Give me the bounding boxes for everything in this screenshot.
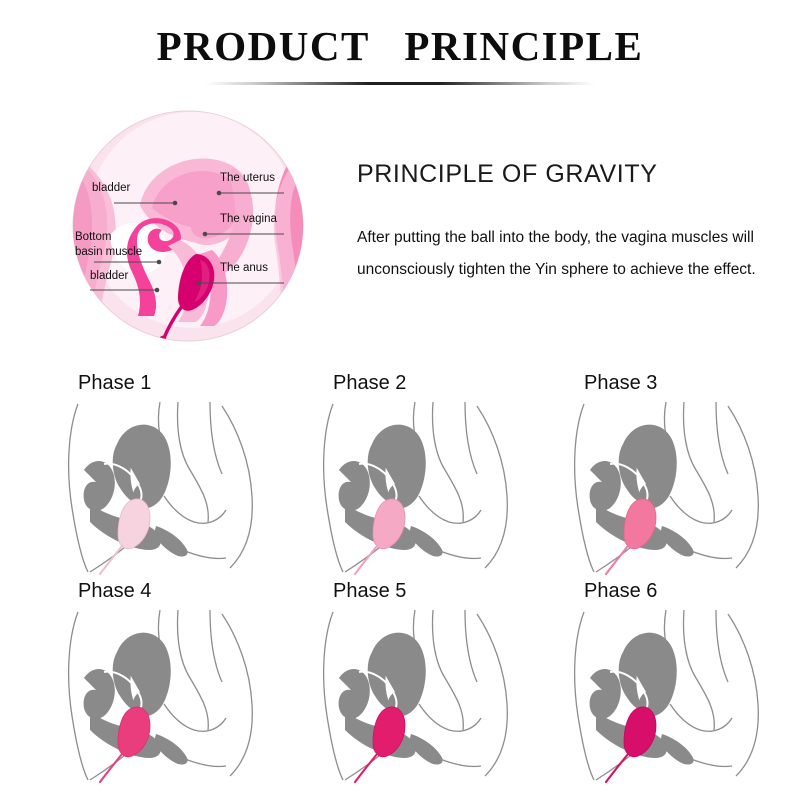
page-title: PRODUCT PRINCIPLE — [0, 22, 800, 70]
principle-body-text: After putting the ball into the body, th… — [357, 222, 772, 286]
phase-illustration — [60, 608, 310, 784]
phase-card-1: Phase 1 — [60, 372, 310, 577]
phase-label: Phase 1 — [78, 372, 151, 395]
title-divider — [205, 82, 595, 85]
phase-illustration — [315, 608, 565, 784]
label-bladder-upper: bladder — [92, 182, 130, 194]
label-bottom-basin-muscle-line1: Bottom — [75, 231, 111, 243]
phase-label: Phase 3 — [584, 372, 657, 395]
phase-label: Phase 2 — [333, 372, 406, 395]
label-the-uterus: The uterus — [220, 172, 275, 184]
phase-card-6: Phase 6 — [566, 580, 800, 785]
phase-label: Phase 4 — [78, 580, 151, 603]
phase-illustration — [566, 400, 800, 576]
phase-card-3: Phase 3 — [566, 372, 800, 577]
label-the-vagina: The vagina — [220, 213, 277, 225]
label-bladder-lower: bladder — [90, 270, 128, 282]
phase-card-4: Phase 4 — [60, 580, 310, 785]
phase-card-5: Phase 5 — [315, 580, 565, 785]
label-bottom-basin-muscle-line2: basin muscle — [75, 246, 142, 258]
phase-illustration — [315, 400, 565, 576]
anatomy-circle-diagram: The uterus bladder The vagina Bottom bas… — [72, 110, 304, 342]
product-principle-infographic: PRODUCT PRINCIPLE — [0, 0, 800, 800]
phase-label: Phase 6 — [584, 580, 657, 603]
phase-illustration — [566, 608, 800, 784]
principle-heading: PRINCIPLE OF GRAVITY — [357, 160, 657, 189]
phase-illustration — [60, 400, 310, 576]
label-the-anus: The anus — [220, 262, 268, 274]
phase-card-2: Phase 2 — [315, 372, 565, 577]
phase-label: Phase 5 — [333, 580, 406, 603]
